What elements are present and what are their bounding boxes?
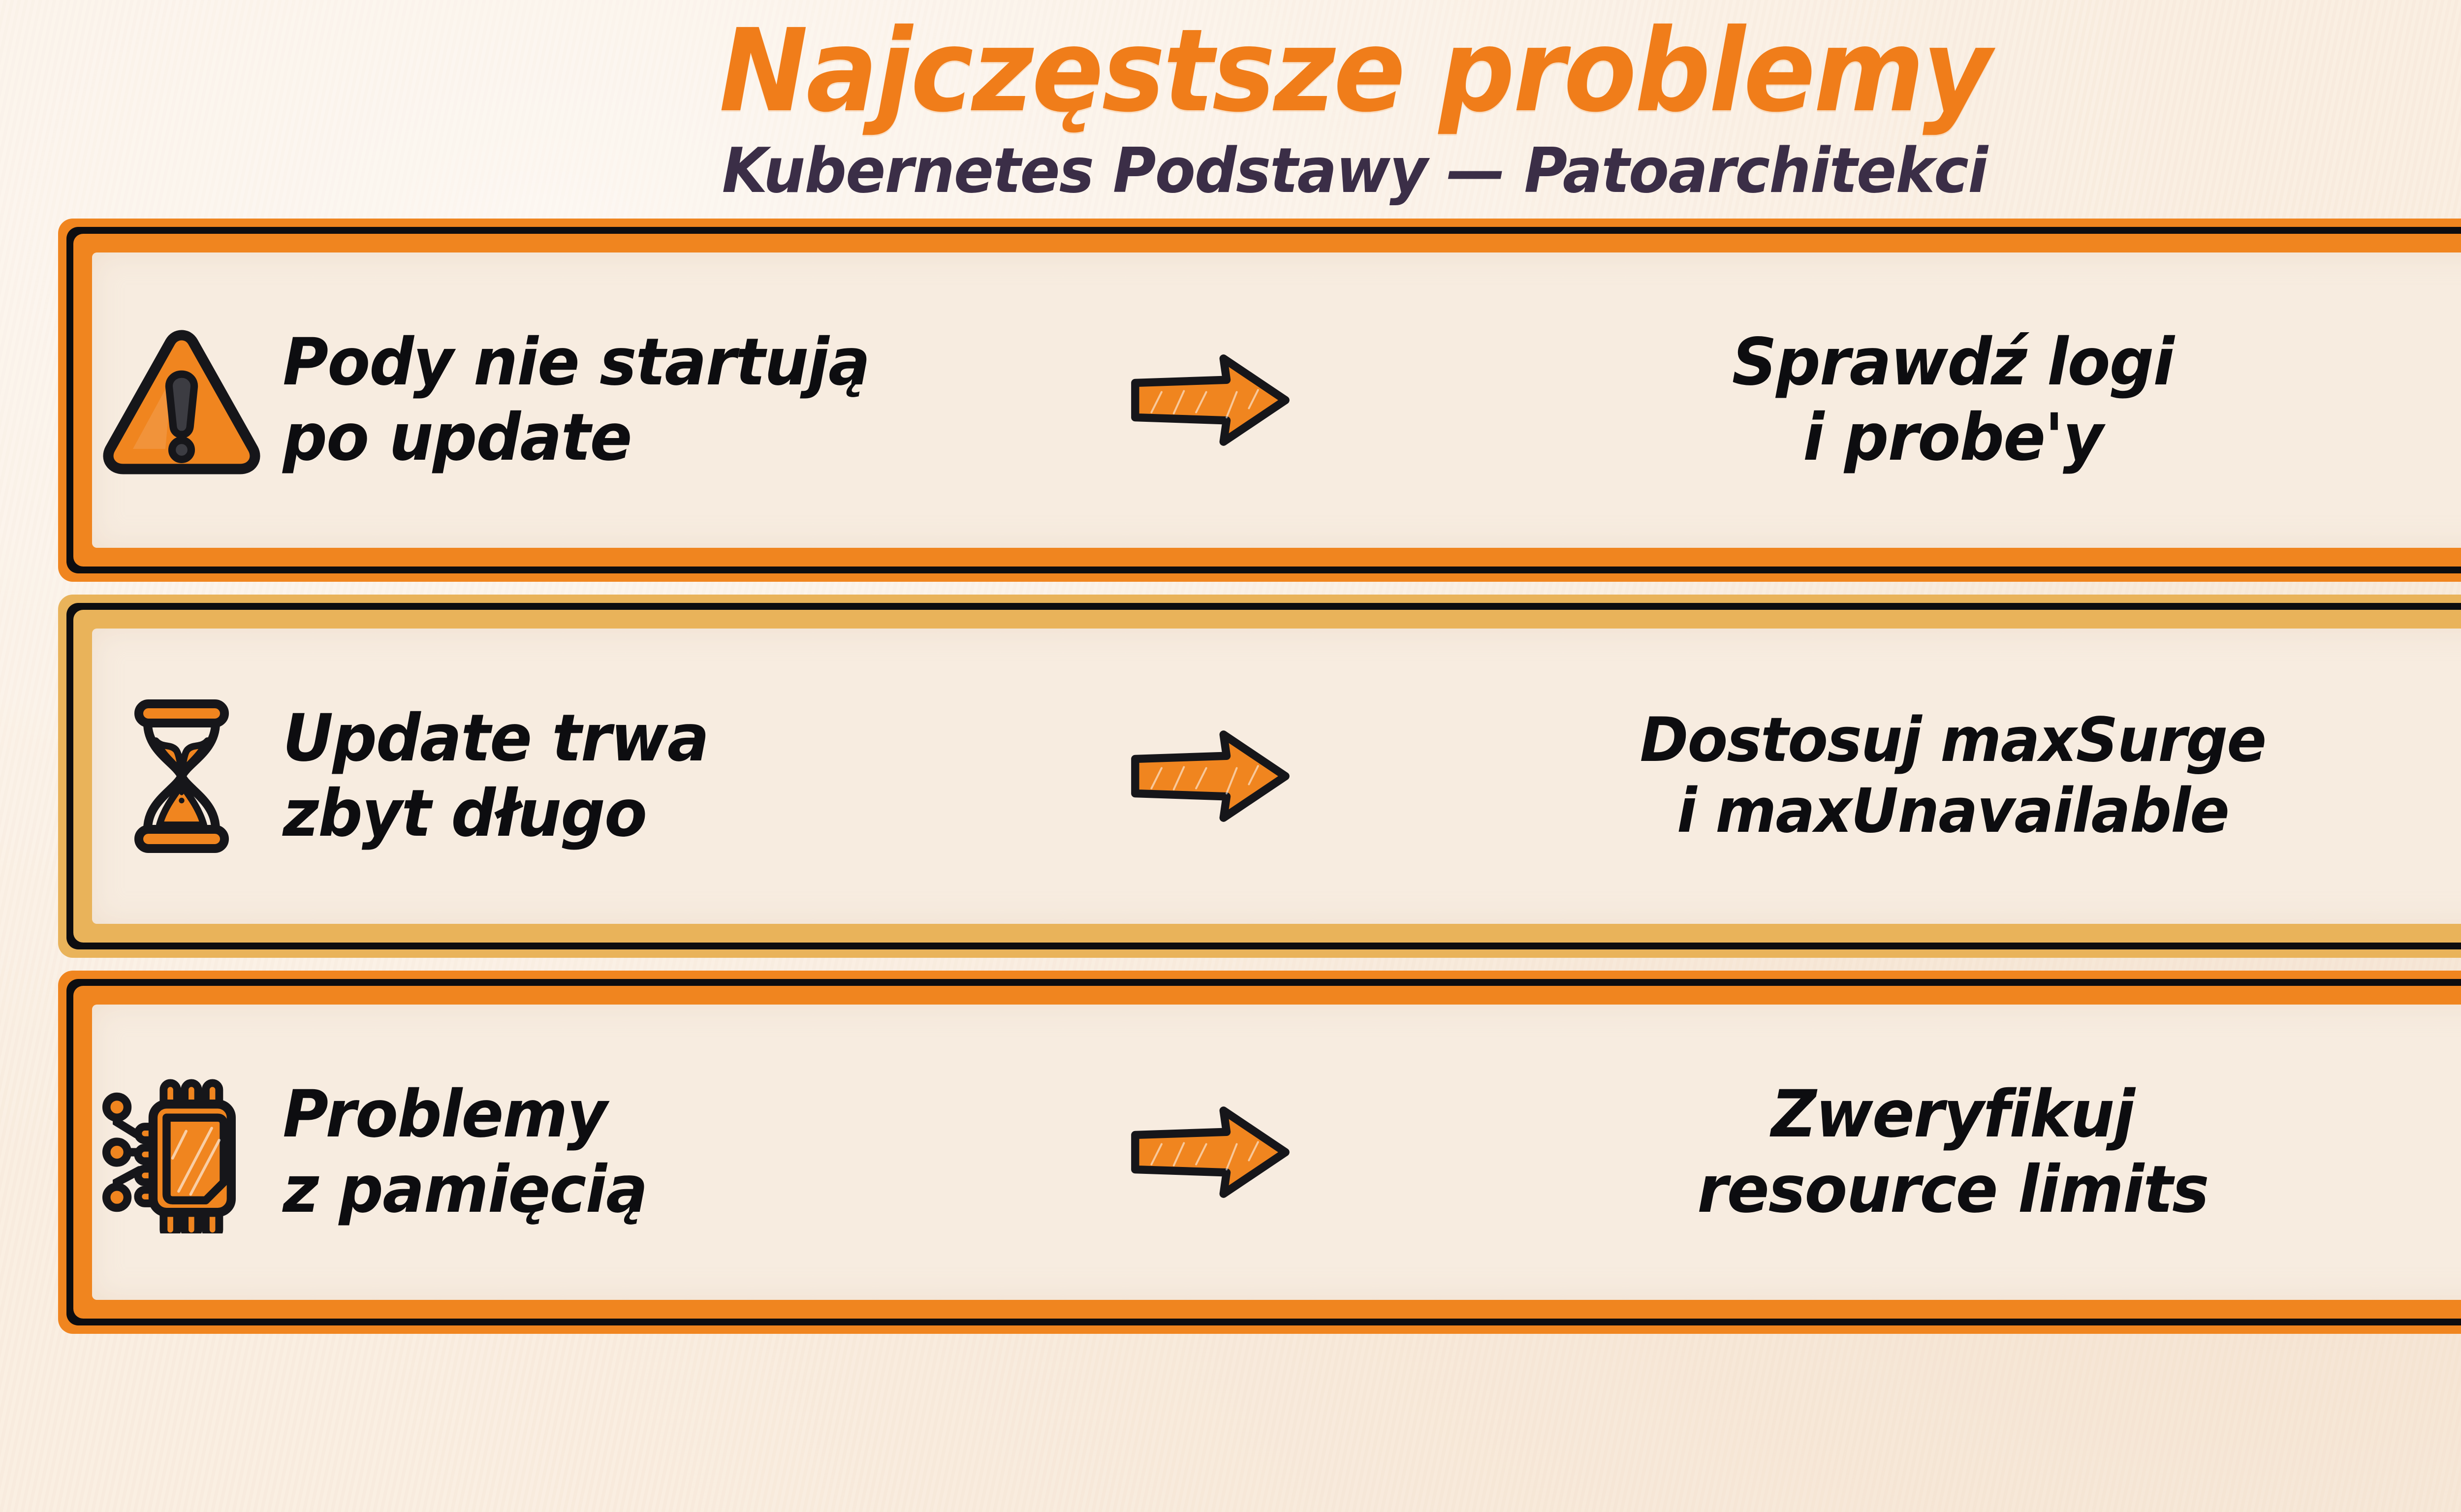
action-line-3a: Zweryfikuj [1337, 1077, 2461, 1152]
page-title: Najczęstsze problemy [95, 14, 2461, 128]
problem-line-1b: po update [283, 400, 1075, 475]
right-arrow-icon [1109, 351, 1311, 449]
problem-rows-container: Pody nie startują po update [0, 202, 2461, 1512]
problem-card-1[interactable]: Pody nie startują po update [58, 219, 2461, 582]
action-label-3: Zweryfikuj resource limits [1337, 1077, 2461, 1228]
problem-label-3: Problemy z pamięcią [263, 1077, 1075, 1228]
problem-line-3a: Problemy [283, 1077, 1075, 1152]
card-content: Update trwa zbyt długo [58, 595, 2461, 958]
cpu-chip-icon [100, 1071, 263, 1233]
problem-label-2: Update trwa zbyt długo [263, 701, 1075, 851]
card-content: Pody nie startują po update [58, 219, 2461, 582]
problem-line-1a: Pody nie startują [283, 325, 1075, 400]
action-line-3b: resource limits [1337, 1152, 2461, 1228]
action-line-1b: i probe'y [1337, 400, 2461, 475]
right-arrow-icon [1109, 727, 1311, 825]
problem-line-2b: zbyt długo [283, 776, 1075, 851]
card-content: Problemy z pamięcią [58, 971, 2461, 1334]
action-label-2: Dostosuj maxSurge i maxUnavailable [1337, 705, 2461, 847]
action-line-2a: Dostosuj maxSurge [1337, 705, 2461, 776]
action-line-1a: Sprawdź logi [1337, 325, 2461, 400]
right-arrow-icon [1109, 1103, 1311, 1201]
slide-root: Najczęstsze problemy Kubernetes Podstawy… [0, 0, 2461, 1512]
page-subtitle: Kubernetes Podstawy — Patoarchitekci [68, 140, 2461, 202]
slide-header: Najczęstsze problemy Kubernetes Podstawy… [0, 0, 2461, 202]
action-label-1: Sprawdź logi i probe'y [1337, 325, 2461, 475]
problem-line-3b: z pamięcią [283, 1152, 1075, 1228]
problem-card-3[interactable]: Problemy z pamięcią [58, 971, 2461, 1334]
problem-line-2a: Update trwa [283, 701, 1075, 776]
problem-label-1: Pody nie startują po update [263, 325, 1075, 475]
warning-triangle-icon [100, 319, 263, 481]
problem-card-2[interactable]: Update trwa zbyt długo [58, 595, 2461, 958]
action-line-2b: i maxUnavailable [1337, 776, 2461, 847]
hourglass-icon [100, 695, 263, 857]
